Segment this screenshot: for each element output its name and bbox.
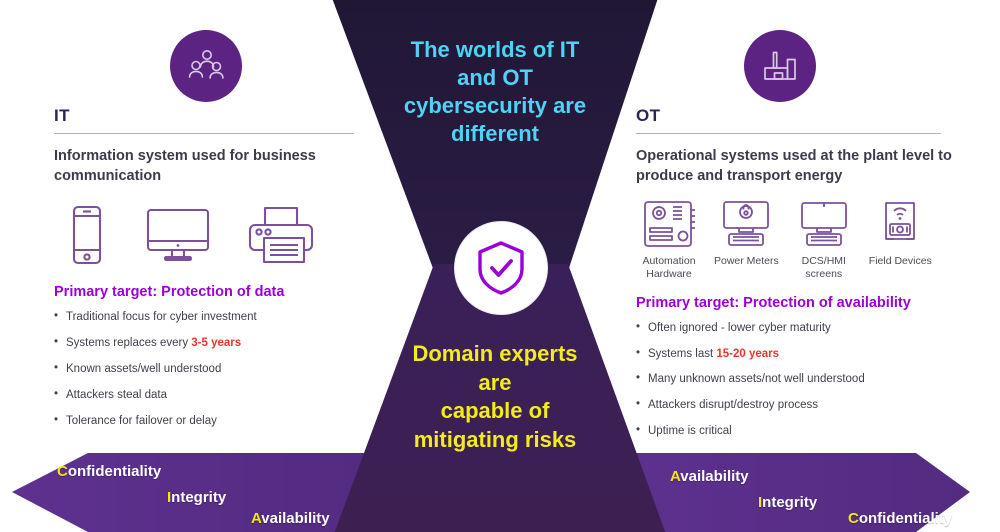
it-icon-cell [64, 204, 110, 266]
subheadline-line: mitigating risks [356, 426, 634, 455]
ot-icon-cell: Power Meters [714, 198, 779, 281]
it-icon-cell [144, 204, 212, 266]
ot-icon-cell: DCS/HMI screens [791, 198, 857, 281]
infographic-canvas: IT Information system used for business … [0, 0, 1000, 532]
shield-badge [455, 222, 547, 314]
cia-rest: ntegrity [762, 494, 817, 511]
dcs-hmi-screen-icon [795, 198, 853, 250]
center-subheadline: Domain experts are capable of mitigating… [356, 340, 634, 454]
headline-line: cybersecurity are [382, 92, 608, 120]
ot-bullet-list: Often ignored - lower cyber maturity Sys… [636, 321, 956, 440]
ot-description: Operational systems used at the plant le… [636, 146, 956, 186]
cia-left-word-1: Confidentiality [57, 463, 161, 480]
list-item: Systems replaces every 3-5 years [54, 336, 354, 351]
cia-rest: vailability [261, 510, 329, 527]
cia-initial: C [848, 510, 859, 527]
bullet-text: Systems replaces every [66, 337, 191, 349]
cia-left-word-2: Integrity [167, 489, 226, 506]
cia-right-word-2: Integrity [758, 494, 817, 511]
smartphone-icon [64, 204, 110, 266]
bullet-highlight: 3-5 years [191, 337, 241, 349]
ot-column: OT Operational systems used at the plant… [636, 0, 956, 450]
ot-primary-target: Primary target: Protection of availabili… [636, 295, 956, 311]
list-item: Attackers disrupt/destroy process [636, 398, 956, 413]
headline-line: and OT [382, 64, 608, 92]
it-description: Information system used for business com… [54, 146, 354, 186]
it-divider [54, 133, 354, 134]
bullet-highlight: 15-20 years [716, 348, 779, 360]
bullet-text: Tolerance for failover or delay [66, 415, 217, 427]
ot-icon-cell: Field Devices [869, 198, 932, 281]
bullet-text: Often ignored - lower cyber maturity [648, 322, 831, 334]
subheadline-line: capable of [356, 397, 634, 426]
printer-icon [246, 204, 316, 266]
subheadline-line: are [356, 369, 634, 398]
ot-icon-cell: Automation Hardware [636, 198, 702, 281]
list-item: Traditional focus for cyber investment [54, 310, 354, 325]
it-icon-cell [246, 204, 316, 266]
ot-icon-caption: Power Meters [714, 255, 779, 268]
list-item: Attackers steal data [54, 388, 354, 403]
it-section-label: IT [54, 106, 354, 129]
cia-right-word-3: Confidentiality [848, 510, 952, 527]
ot-icon-caption: Automation Hardware [636, 255, 702, 281]
cia-initial: A [251, 510, 261, 527]
list-item: Often ignored - lower cyber maturity [636, 321, 956, 336]
bullet-text: Attackers disrupt/destroy process [648, 399, 818, 411]
cia-rest: vailability [680, 468, 748, 485]
cia-initial: C [57, 463, 68, 480]
ot-icon-caption: DCS/HMI screens [791, 255, 857, 281]
bullet-text: Uptime is critical [648, 425, 732, 437]
bullet-text: Attackers steal data [66, 389, 167, 401]
cia-left-word-3: Availability [251, 510, 330, 527]
cia-initial: A [670, 468, 680, 485]
bullet-text: Traditional focus for cyber investment [66, 311, 257, 323]
list-item: Systems last 15-20 years [636, 347, 956, 362]
cia-rest: ntegrity [171, 489, 226, 506]
list-item: Uptime is critical [636, 424, 956, 439]
it-primary-target: Primary target: Protection of data [54, 284, 354, 300]
center-headline: The worlds of IT and OT cybersecurity ar… [382, 36, 608, 149]
it-column: IT Information system used for business … [54, 0, 354, 440]
headline-line: different [382, 120, 608, 148]
list-item: Known assets/well understood [54, 362, 354, 377]
cia-right-word-1: Availability [670, 468, 749, 485]
cia-rest: onfidentiality [68, 463, 161, 480]
ot-icons-row: Automation Hardware Power Meters [636, 198, 956, 281]
ot-divider [636, 133, 941, 134]
circuit-board-icon [640, 198, 698, 250]
list-item: Tolerance for failover or delay [54, 414, 354, 429]
ot-icon-caption: Field Devices [869, 255, 932, 268]
bullet-text: Many unknown assets/not well understood [648, 373, 865, 385]
it-icons-row [64, 204, 354, 266]
ot-section-label: OT [636, 106, 956, 129]
bullet-text: Known assets/well understood [66, 363, 221, 375]
it-bullet-list: Traditional focus for cyber investment S… [54, 310, 354, 429]
headline-line: The worlds of IT [382, 36, 608, 64]
power-meter-monitor-icon [717, 198, 775, 250]
field-device-icon [874, 198, 926, 250]
desktop-monitor-icon [144, 204, 212, 266]
shield-check-icon [474, 239, 528, 297]
subheadline-line: Domain experts [356, 340, 634, 369]
list-item: Many unknown assets/not well understood [636, 372, 956, 387]
cia-rest: onfidentiality [859, 510, 952, 527]
bullet-text: Systems last [648, 348, 716, 360]
